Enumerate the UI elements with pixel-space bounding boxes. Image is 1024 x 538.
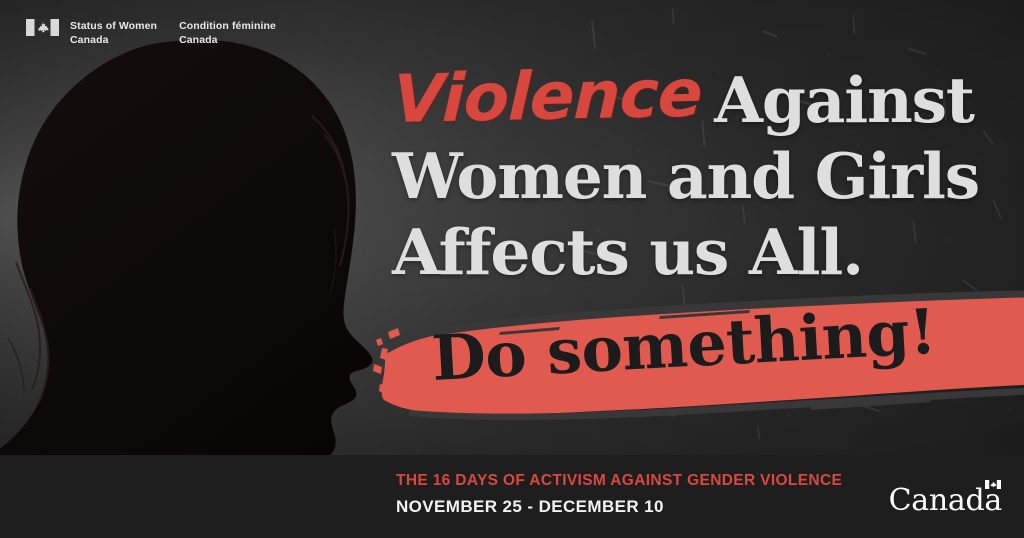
fip-english: Status of Women Canada (70, 19, 157, 47)
headline-line-3: Affects us All. (392, 214, 1012, 290)
headline-line-1: ViolenceAgainst (392, 62, 1012, 138)
call-to-action-banner: Do something! (380, 288, 1024, 428)
campaign-dates: NOVEMBER 25 - DECEMBER 10 (396, 494, 842, 520)
fip-english-line2: Canada (70, 33, 157, 47)
headline-word-against: Against (714, 63, 974, 137)
headline-block: ViolenceAgainst Women and Girls Affects … (392, 62, 1012, 290)
campaign-poster: Status of Women Canada Condition féminin… (0, 0, 1024, 538)
fip-french-line1: Condition féminine (179, 19, 276, 33)
bottom-bar: THE 16 DAYS OF ACTIVISM AGAINST GENDER V… (0, 455, 1024, 538)
fip-text-block: Status of Women Canada Condition féminin… (70, 19, 276, 47)
fip-french: Condition féminine Canada (179, 19, 276, 47)
fip-french-line2: Canada (179, 33, 276, 47)
canada-wordmark: Canada (889, 486, 1002, 516)
headline-line-2: Women and Girls (392, 138, 1012, 214)
campaign-title: THE 16 DAYS OF ACTIVISM AGAINST GENDER V… (396, 469, 842, 492)
bottom-bar-text: THE 16 DAYS OF ACTIVISM AGAINST GENDER V… (396, 469, 842, 521)
canada-wordmark-text: Canada (889, 486, 1002, 516)
headline-word-violence: Violence (392, 56, 703, 138)
fip-signature: Status of Women Canada Condition féminin… (26, 19, 276, 47)
canada-flag-icon (26, 19, 59, 36)
canada-flag-icon (985, 480, 1001, 489)
fip-english-line1: Status of Women (70, 19, 157, 33)
